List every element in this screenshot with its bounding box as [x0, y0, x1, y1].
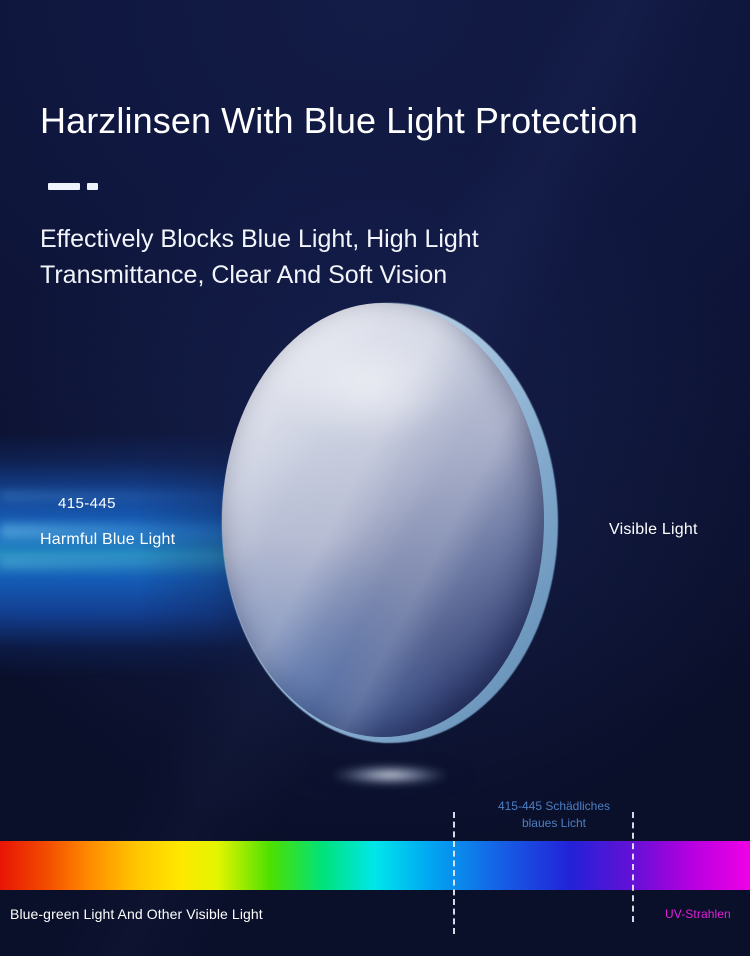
dash-dash-decoration-icon	[48, 183, 98, 190]
promo-banner: Harzlinsen With Blue Light Protection Ef…	[0, 0, 750, 956]
subtitle-line-1: Effectively Blocks Blue Light, High Ligh…	[40, 221, 479, 257]
page-title: Harzlinsen With Blue Light Protection	[40, 100, 638, 142]
harmful-range-label: 415-445	[58, 495, 116, 512]
uv-rays-label: UV-Strahlen	[665, 907, 731, 921]
lens-ground-reflection	[316, 762, 464, 788]
harmful-de-line-2: blaues Licht	[466, 815, 642, 832]
subtitle: Effectively Blocks Blue Light, High Ligh…	[40, 221, 479, 293]
spectrum-gradient-bar	[0, 841, 750, 890]
harmful-blue-light-de-label: 415-445 Schädliches blaues Licht	[466, 798, 642, 832]
spectrum-marker-start	[453, 812, 455, 934]
lens-image	[222, 303, 558, 743]
harmful-blue-light-label: Harmful Blue Light	[40, 531, 175, 549]
visible-light-label: Visible Light	[609, 521, 698, 539]
lens-top-glow	[240, 309, 490, 459]
harmful-de-line-1: 415-445 Schädliches	[466, 798, 642, 815]
spectrum-marker-end	[632, 812, 634, 922]
blue-green-visible-light-label: Blue-green Light And Other Visible Light	[10, 906, 263, 922]
subtitle-line-2: Transmittance, Clear And Soft Vision	[40, 257, 479, 293]
dash-long-icon	[48, 183, 80, 190]
dash-short-icon	[87, 183, 98, 190]
